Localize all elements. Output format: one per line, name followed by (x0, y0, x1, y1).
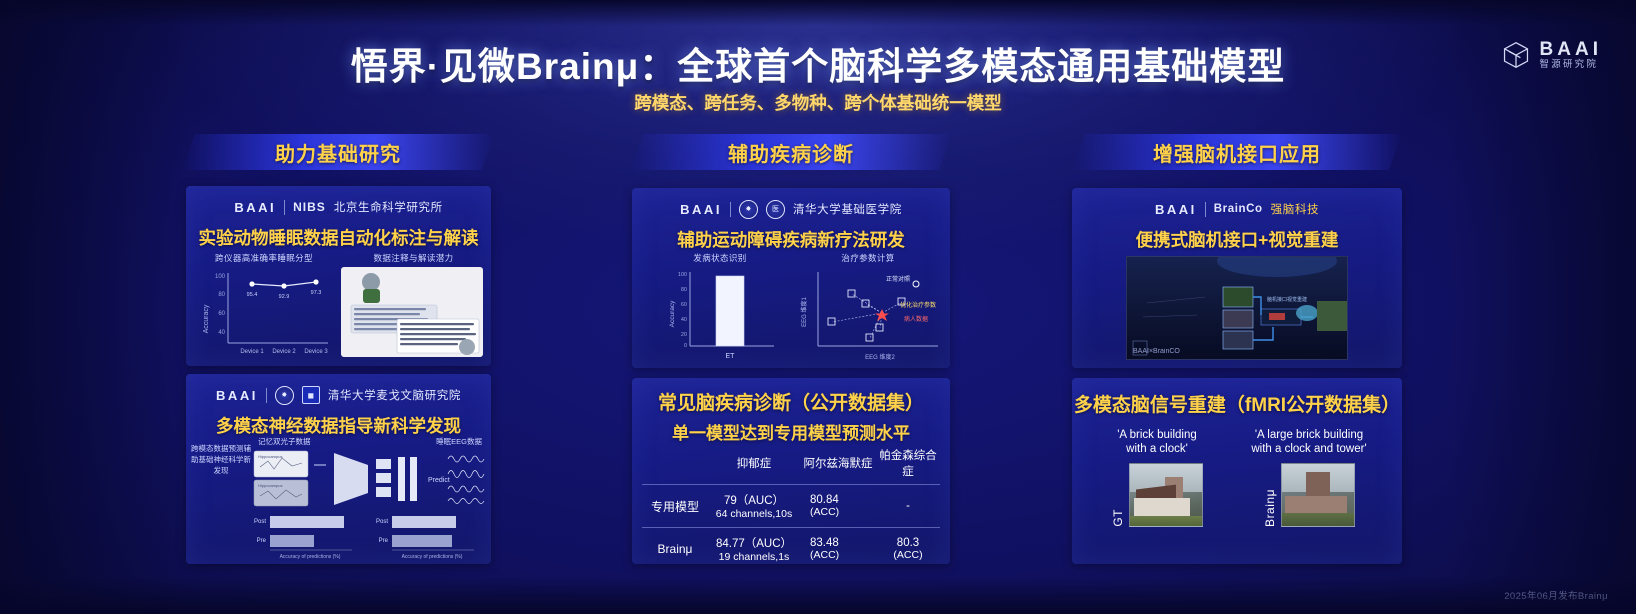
photo-grass (1130, 516, 1202, 526)
section-header-1-label: 助力基础研究 (275, 138, 401, 167)
fmri-examples: 'A brick buildingwith a clock' GT 'A lar… (1090, 428, 1386, 527)
card-diagnosis-subtitle: 单一模型达到专用模型预测水平 (632, 419, 950, 444)
section-header-1: 助力基础研究 (182, 134, 494, 170)
table-header-row: 抑郁症 阿尔兹海默症 帕金森综合症 (642, 444, 940, 485)
partner-name: 北京生命科学研究所 (334, 199, 443, 215)
svg-text:Device 1: Device 1 (240, 349, 264, 355)
svg-text:100: 100 (215, 274, 226, 280)
fmri-photo-gt (1129, 463, 1203, 527)
baai-logo-text: BAAI (234, 200, 276, 215)
fmri-example-brainmu: 'A large brick buildingwith a clock and … (1239, 428, 1379, 527)
diagnosis-table-wrap: 抑郁症 阿尔兹海默症 帕金森综合症 专用模型 79（AUC） 64 channe… (642, 444, 940, 564)
card-diagnosis-table: 常见脑疾病诊断（公开数据集） 单一模型达到专用模型预测水平 抑郁症 阿尔兹海默症… (632, 378, 950, 564)
sleep-line-chart: 跨仪器高准确率睡眠分型 100 80 60 40 Accuracy 95.4 9… (194, 252, 334, 364)
neuro-panel-captions: 记忆双光子数据 睡眠EEG数据 (252, 436, 488, 447)
svg-text:Accuracy of predictions (%): Accuracy of predictions (%) (402, 554, 463, 560)
svg-text:Pre: Pre (379, 538, 389, 544)
fmri-image-row-brainmu: Brainμ (1263, 463, 1355, 527)
svg-text:40: 40 (681, 317, 687, 323)
card-neuro-logos: BAAI ✸ ◼ 清华大学麦戈文脑研究院 (186, 382, 491, 408)
baai-brand-text: BAAI 智源研究院 (1540, 40, 1602, 70)
diagnosis-metrics-table: 抑郁症 阿尔兹海默症 帕金森综合症 专用模型 79（AUC） 64 channe… (642, 444, 940, 564)
svg-text:97.3: 97.3 (311, 290, 322, 296)
motor-bar-chart-svg: 100 80 60 40 20 0 Accuracy ET (650, 266, 790, 362)
svg-text:优化治疗参数: 优化治疗参数 (900, 301, 936, 309)
svg-text:Predict: Predict (428, 477, 450, 484)
cell-specialized-depression: 79（AUC） 64 channels,10s (708, 485, 800, 528)
svg-text:80: 80 (218, 292, 225, 298)
bci-demo-media-svg: 脑机接口视觉重建 (1127, 257, 1348, 360)
card-sleep-logos: BAAI NIBS 北京生命科学研究所 (186, 194, 491, 220)
col-header-1: 抑郁症 (708, 444, 800, 485)
baai-logo-text: BAAI (216, 388, 258, 403)
bottom-vignette (0, 576, 1636, 614)
neuro-caption-left: 记忆双光子数据 (258, 436, 311, 447)
logo-divider (1205, 202, 1206, 217)
svg-text:100: 100 (678, 272, 687, 278)
card-sleep-title: 实验动物睡眠数据自动化标注与解读 (186, 225, 491, 250)
col-header-2: 阿尔兹海默症 (800, 444, 876, 485)
photo-wall (1134, 498, 1190, 517)
card-fmri-title: 多模态脑信号重建（fMRI公开数据集） (1072, 390, 1402, 417)
sleep-line-chart-caption: 跨仪器高准确率睡眠分型 (194, 252, 334, 264)
card-bci-vision: BAAI BrainCo 强脑科技 便携式脑机接口+视觉重建 (1072, 188, 1402, 368)
page-subtitle: 跨模态、跨任务、多物种、跨个体基础统一模型 (0, 90, 1636, 115)
partner-name: 清华大学麦戈文脑研究院 (328, 387, 461, 403)
svg-text:病人数据: 病人数据 (904, 315, 928, 323)
fmri-side-label-gt: GT (1111, 509, 1125, 527)
sleep-line-chart-svg: 100 80 60 40 Accuracy 95.4 92.9 97.3 Dev… (194, 267, 334, 359)
section-header-3: 增强脑机接口应用 (1072, 134, 1402, 170)
svg-text:Hippocampus: Hippocampus (258, 454, 282, 459)
fmri-example-gt: 'A brick buildingwith a clock' GT (1097, 428, 1217, 527)
sleep-interpretation-caption: 数据注释与解读潜力 (341, 252, 486, 264)
fmri-side-label-brainmu: Brainμ (1263, 489, 1277, 527)
mcgovern-logo-icon: ◼ (302, 386, 320, 404)
card-neuro-discovery: BAAI ✸ ◼ 清华大学麦戈文脑研究院 多模态神经数据指导新科学发现 跨模态数… (186, 374, 491, 564)
motor-bar-chart-caption: 发病状态识别 (650, 252, 790, 264)
card-bci-logos: BAAI BrainCo 强脑科技 (1072, 196, 1402, 222)
svg-text:60: 60 (218, 311, 225, 317)
svg-text:95.4: 95.4 (247, 292, 258, 298)
svg-text:92.9: 92.9 (279, 294, 290, 300)
baai-name-cn: 智源研究院 (1540, 60, 1602, 70)
bci-demo-media: 脑机接口视觉重建 BAAI×BrainCO (1126, 256, 1348, 360)
logo-divider (266, 388, 267, 403)
top-vignette (0, 0, 1636, 26)
card-fmri-reconstruction: 多模态脑信号重建（fMRI公开数据集） 'A brick buildingwit… (1072, 378, 1402, 564)
card-motor-therapy: BAAI ✸ 医 清华大学基础医学院 辅助运动障碍疾病新疗法研发 发病状态识别 … (632, 188, 950, 368)
svg-text:Device 3: Device 3 (304, 349, 328, 355)
svg-text:60: 60 (681, 302, 687, 308)
section-header-3-label: 增强脑机接口应用 (1153, 138, 1321, 167)
motor-scatter-caption: 治疗参数计算 (792, 252, 944, 264)
baai-brand: BAAI 智源研究院 (1501, 40, 1602, 70)
col-header-3: 帕金森综合症 (876, 444, 940, 485)
cell-brainmu-alzheimer: 83.48 (ACC) (800, 528, 876, 565)
card-neuro-title: 多模态神经数据指导新科学发现 (186, 413, 491, 438)
svg-text:Pre: Pre (257, 538, 267, 544)
card-motor-logos: BAAI ✸ 医 清华大学基础医学院 (632, 196, 950, 222)
neuro-bar-charts: Post Pre Accuracy of predictions (%) Pos… (248, 510, 488, 560)
card-bci-title: 便携式脑机接口+视觉重建 (1072, 227, 1402, 252)
medical-school-seal-icon: 医 (766, 200, 785, 219)
motor-scatter-svg: EEG 维度1 EEG 维度2 (792, 266, 944, 362)
cell-brainmu-parkinson: 80.3 (ACC) (876, 528, 940, 565)
fmri-image-row-gt: GT (1111, 463, 1203, 527)
chat-mockup (341, 267, 483, 357)
motor-bar-chart: 发病状态识别 100 80 60 40 20 0 Accuracy ET (650, 252, 790, 367)
baai-cube-icon (1501, 40, 1531, 70)
page-title: 悟界·见微Brainμ：全球首个脑科学多模态通用基础模型 (0, 36, 1636, 90)
col-header-0 (642, 444, 708, 485)
fmri-photo-brainmu (1281, 463, 1355, 527)
svg-text:Accuracy of predictions (%): Accuracy of predictions (%) (280, 554, 341, 560)
sleep-interpretation-panel: 数据注释与解读潜力 (341, 252, 486, 357)
section-header-2: 辅助疾病诊断 (630, 134, 952, 170)
bci-media-watermark: BAAI×BrainCO (1133, 348, 1180, 355)
neuro-bar-chart-left: Post Pre Accuracy of predictions (%) (248, 510, 360, 560)
table-row: Brainμ 84.77（AUC） 19 channels,1s 83.48 (… (642, 528, 940, 565)
cell-specialized-parkinson: - (876, 485, 940, 528)
baai-logo-text: BAAI (680, 202, 722, 217)
svg-text:Post: Post (376, 519, 388, 525)
neuro-left-note: 跨模态数据预测辅助基础神经科学新发现 (190, 444, 252, 477)
svg-text:0: 0 (684, 343, 687, 349)
neuro-caption-right: 睡眠EEG数据 (436, 436, 482, 447)
card-sleep-annotation: BAAI NIBS 北京生命科学研究所 实验动物睡眠数据自动化标注与解读 跨仪器… (186, 186, 491, 366)
svg-text:Post: Post (254, 519, 266, 525)
brainco-logo-text: BrainCo (1214, 203, 1263, 215)
fmri-caption-gt: 'A brick buildingwith a clock' (1117, 428, 1197, 457)
neuro-pipeline-svg: Hippocampus Hippocampus Predict (252, 449, 488, 511)
nibs-logo-text: NIBS (293, 200, 326, 214)
cell-specialized-alzheimer: 80.84 (ACC) (800, 485, 876, 528)
partner-name: 清华大学基础医学院 (793, 201, 902, 217)
fmri-caption-brainmu: 'A large brick buildingwith a clock and … (1251, 428, 1366, 457)
logo-divider (284, 200, 285, 215)
tsinghua-seal-icon: ✸ (739, 200, 758, 219)
baai-name: BAAI (1540, 40, 1602, 60)
card-motor-title: 辅助运动障碍疾病新疗法研发 (632, 227, 950, 252)
logo-divider (730, 202, 731, 217)
cell-brainmu-depression: 84.77（AUC） 19 channels,1s (708, 528, 800, 565)
partner-name: 强脑科技 (1271, 201, 1319, 217)
svg-text:正常对照: 正常对照 (886, 275, 910, 283)
section-header-2-label: 辅助疾病诊断 (728, 138, 854, 167)
neuro-pipeline: 记忆双光子数据 睡眠EEG数据 Hippocampus Hippocampus (252, 436, 488, 516)
svg-text:Accuracy: Accuracy (203, 304, 210, 333)
baai-logo-text: BAAI (1155, 202, 1197, 217)
svg-text:40: 40 (218, 330, 225, 336)
card-diagnosis-title: 常见脑疾病诊断（公开数据集） (632, 388, 950, 415)
neuro-bar-chart-right: Post Pre Accuracy of predictions (%) (370, 510, 482, 560)
row-label-specialized: 专用模型 (642, 485, 708, 528)
svg-text:Accuracy: Accuracy (669, 300, 676, 327)
chat-mockup-svg (341, 267, 483, 357)
tsinghua-seal-icon: ✸ (275, 386, 294, 405)
svg-text:脑机接口视觉重建: 脑机接口视觉重建 (1267, 296, 1307, 303)
motor-scatter-chart: 治疗参数计算 EEG 维度1 EEG 维度2 (792, 252, 944, 367)
table-row: 专用模型 79（AUC） 64 channels,10s 80.84 (ACC)… (642, 485, 940, 528)
svg-text:80: 80 (681, 287, 687, 293)
photo-grass (1282, 513, 1354, 525)
svg-text:Device 2: Device 2 (272, 349, 296, 355)
svg-text:Hippocampus: Hippocampus (258, 483, 282, 488)
svg-text:ET: ET (726, 353, 736, 360)
svg-text:EEG 维度1: EEG 维度1 (800, 297, 808, 327)
row-label-brainmu: Brainμ (642, 528, 708, 565)
slide-root: 悟界·见微Brainμ：全球首个脑科学多模态通用基础模型 跨模态、跨任务、多物种… (0, 0, 1636, 614)
svg-text:20: 20 (681, 332, 687, 338)
svg-text:EEG 维度2: EEG 维度2 (865, 353, 895, 361)
